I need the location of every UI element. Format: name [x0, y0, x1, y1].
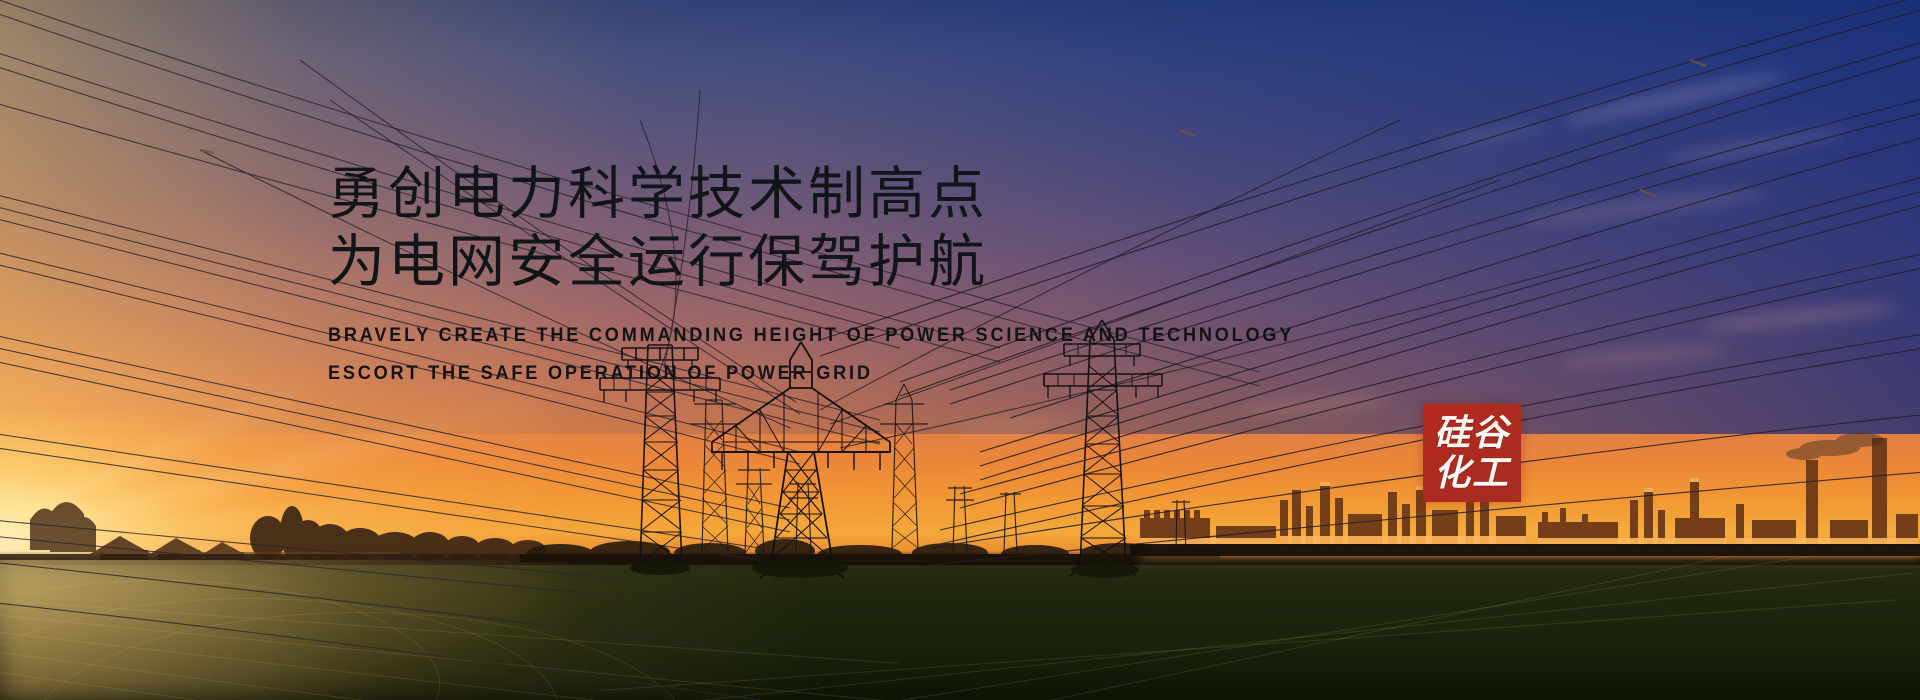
logo-text-line-1: 硅谷	[1434, 413, 1510, 453]
subtitle-line-1: BRAVELY CREATE THE COMMANDING HEIGHT OF …	[328, 316, 1351, 354]
headline-line-1: 勇创电力科学技术制高点	[328, 160, 1428, 228]
headline-line-2: 为电网安全运行保驾护航	[328, 228, 1428, 296]
field-ground	[0, 560, 1920, 700]
subtitle-line-2: ESCORT THE SAFE OPERATION OF POWER GRID	[328, 354, 1351, 392]
banner-copy: 勇创电力科学技术制高点 为电网安全运行保驾护航 BRAVELY CREATE T…	[328, 160, 1428, 392]
logo-text-line-2: 化工	[1434, 453, 1510, 493]
company-logo-stamp[interactable]: 硅谷 化工	[1423, 404, 1521, 502]
hero-banner: 勇创电力科学技术制高点 为电网安全运行保驾护航 BRAVELY CREATE T…	[0, 0, 1920, 700]
